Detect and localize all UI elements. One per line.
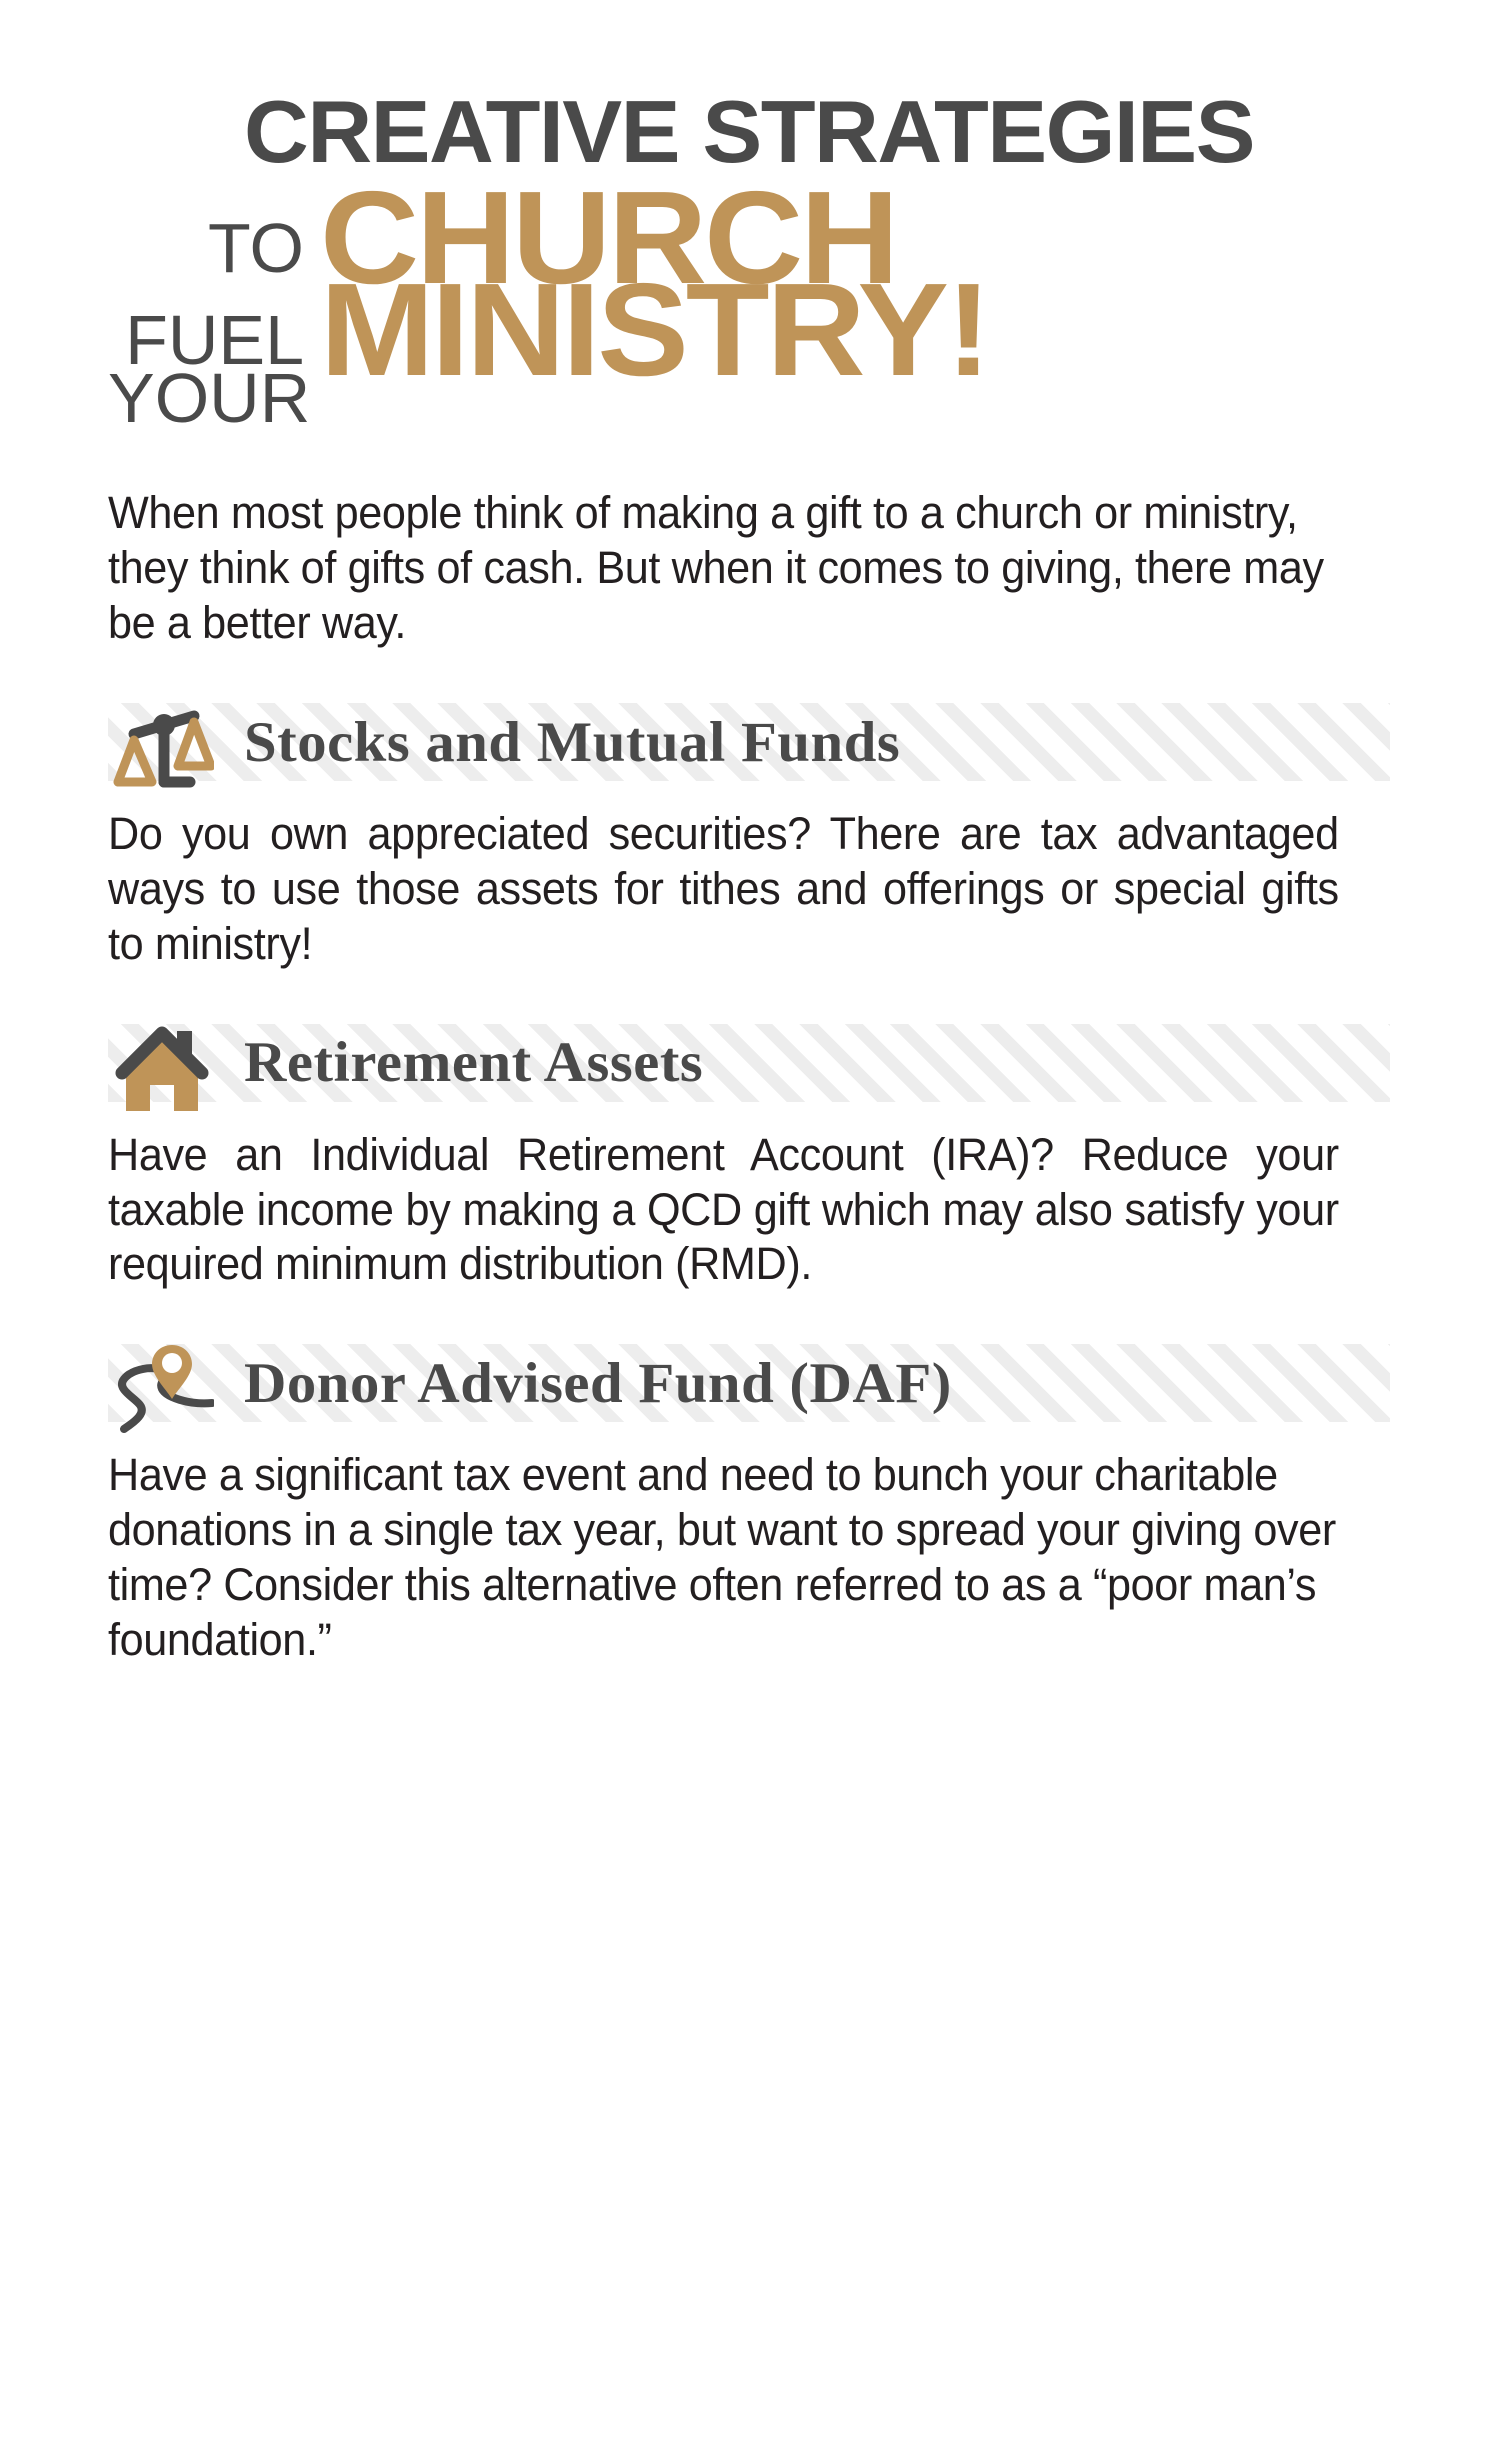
- headline-word-to: TO: [108, 218, 320, 290]
- headline-word-your: YOUR: [108, 368, 320, 440]
- section-body-text: Have an Individual Retirement Account (I…: [108, 1128, 1339, 1293]
- infographic-page: CREATIVE STRATEGIES TO CHURCH FUEL MINIS…: [0, 0, 1498, 2448]
- winding-road-pin-icon: [110, 1331, 214, 1435]
- masthead: CREATIVE STRATEGIES TO CHURCH FUEL MINIS…: [0, 0, 1498, 440]
- intro-paragraph: When most people think of making a gift …: [108, 486, 1339, 651]
- section-body-text: Have a significant tax event and need to…: [108, 1448, 1339, 1668]
- balance-scale-icon: [110, 690, 214, 794]
- section-header-band: Stocks and Mutual Funds: [108, 703, 1390, 781]
- section-stocks-and-mutual-funds: Stocks and Mutual Funds Do you own appre…: [0, 703, 1498, 972]
- section-header-band: Donor Advised Fund (DAF): [108, 1344, 1390, 1422]
- headline-word-ministry: MINISTRY!: [320, 277, 988, 383]
- section-retirement-assets: Retirement Assets Have an Individual Ret…: [0, 1024, 1498, 1293]
- section-header-band: Retirement Assets: [108, 1024, 1390, 1102]
- house-icon: [110, 1011, 214, 1115]
- section-title: Donor Advised Fund (DAF): [244, 1355, 952, 1412]
- section-title: Stocks and Mutual Funds: [244, 714, 900, 771]
- section-title: Retirement Assets: [244, 1034, 703, 1091]
- section-body-text: Do you own appreciated securities? There…: [108, 807, 1339, 972]
- headline-line-1: CREATIVE STRATEGIES: [95, 92, 1403, 173]
- section-donor-advised-fund: Donor Advised Fund (DAF) Have a signific…: [0, 1344, 1498, 1668]
